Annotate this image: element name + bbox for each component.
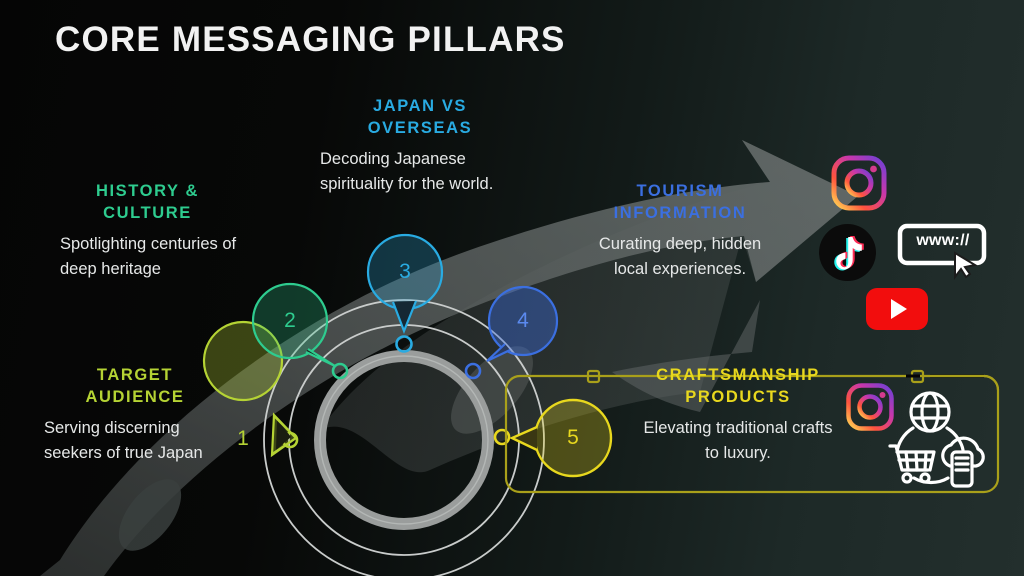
url-bar-label: www:// [908,232,978,250]
bubble-number-5: 5 [554,421,592,455]
pillar-block-japan-vs-overseas: JAPAN VS OVERSEAS Decoding Japanese spir… [320,95,520,197]
pillar-heading-history-culture: HISTORY & CULTURE [40,180,255,224]
pillar-block-history-culture: HISTORY & CULTURE Spotlighting centuries… [40,180,255,282]
pillar-heading-craftsmanship: CRAFTSMANSHIP PRODUCTS [636,364,840,408]
ecommerce-cluster-icon[interactable] [880,390,990,490]
shopping-cart-icon [890,446,934,482]
pillar-heading-tourism-information: TOURISM INFORMATION [585,180,775,224]
pillar-block-tourism-information: TOURISM INFORMATION Curating deep, hidde… [592,180,768,282]
pillar-body-craftsmanship: Elevating traditional crafts to luxury. [636,416,840,466]
instagram-icon[interactable] [830,154,888,212]
page-title: CORE MESSAGING PILLARS [55,20,566,60]
tiktok-icon[interactable] [819,224,876,281]
pillar-body-target-audience: Serving discerning seekers of true Japan [40,416,230,466]
youtube-icon[interactable] [866,288,928,330]
bubble-number-4: 4 [504,304,542,338]
slide-canvas: 1 2 3 4 5 CORE MESSAGING PILLARS HISTORY… [0,0,1024,576]
bubble-number-3: 3 [386,255,424,289]
pillar-block-target-audience: TARGET AUDIENCE Serving discerning seeke… [40,364,230,466]
pillar-body-history-culture: Spotlighting centuries of deep heritage [40,232,255,282]
bubble-number-2: 2 [271,304,309,338]
globe-icon [911,393,949,431]
pillar-heading-target-audience: TARGET AUDIENCE [40,364,230,408]
pillar-heading-japan-vs-overseas: JAPAN VS OVERSEAS [320,95,520,139]
pillar-body-tourism-information: Curating deep, hidden local experiences. [592,232,768,282]
pillar-body-japan-vs-overseas: Decoding Japanese spirituality for the w… [320,147,520,197]
pillar-block-craftsmanship: CRAFTSMANSHIP PRODUCTS Elevating traditi… [636,364,840,466]
